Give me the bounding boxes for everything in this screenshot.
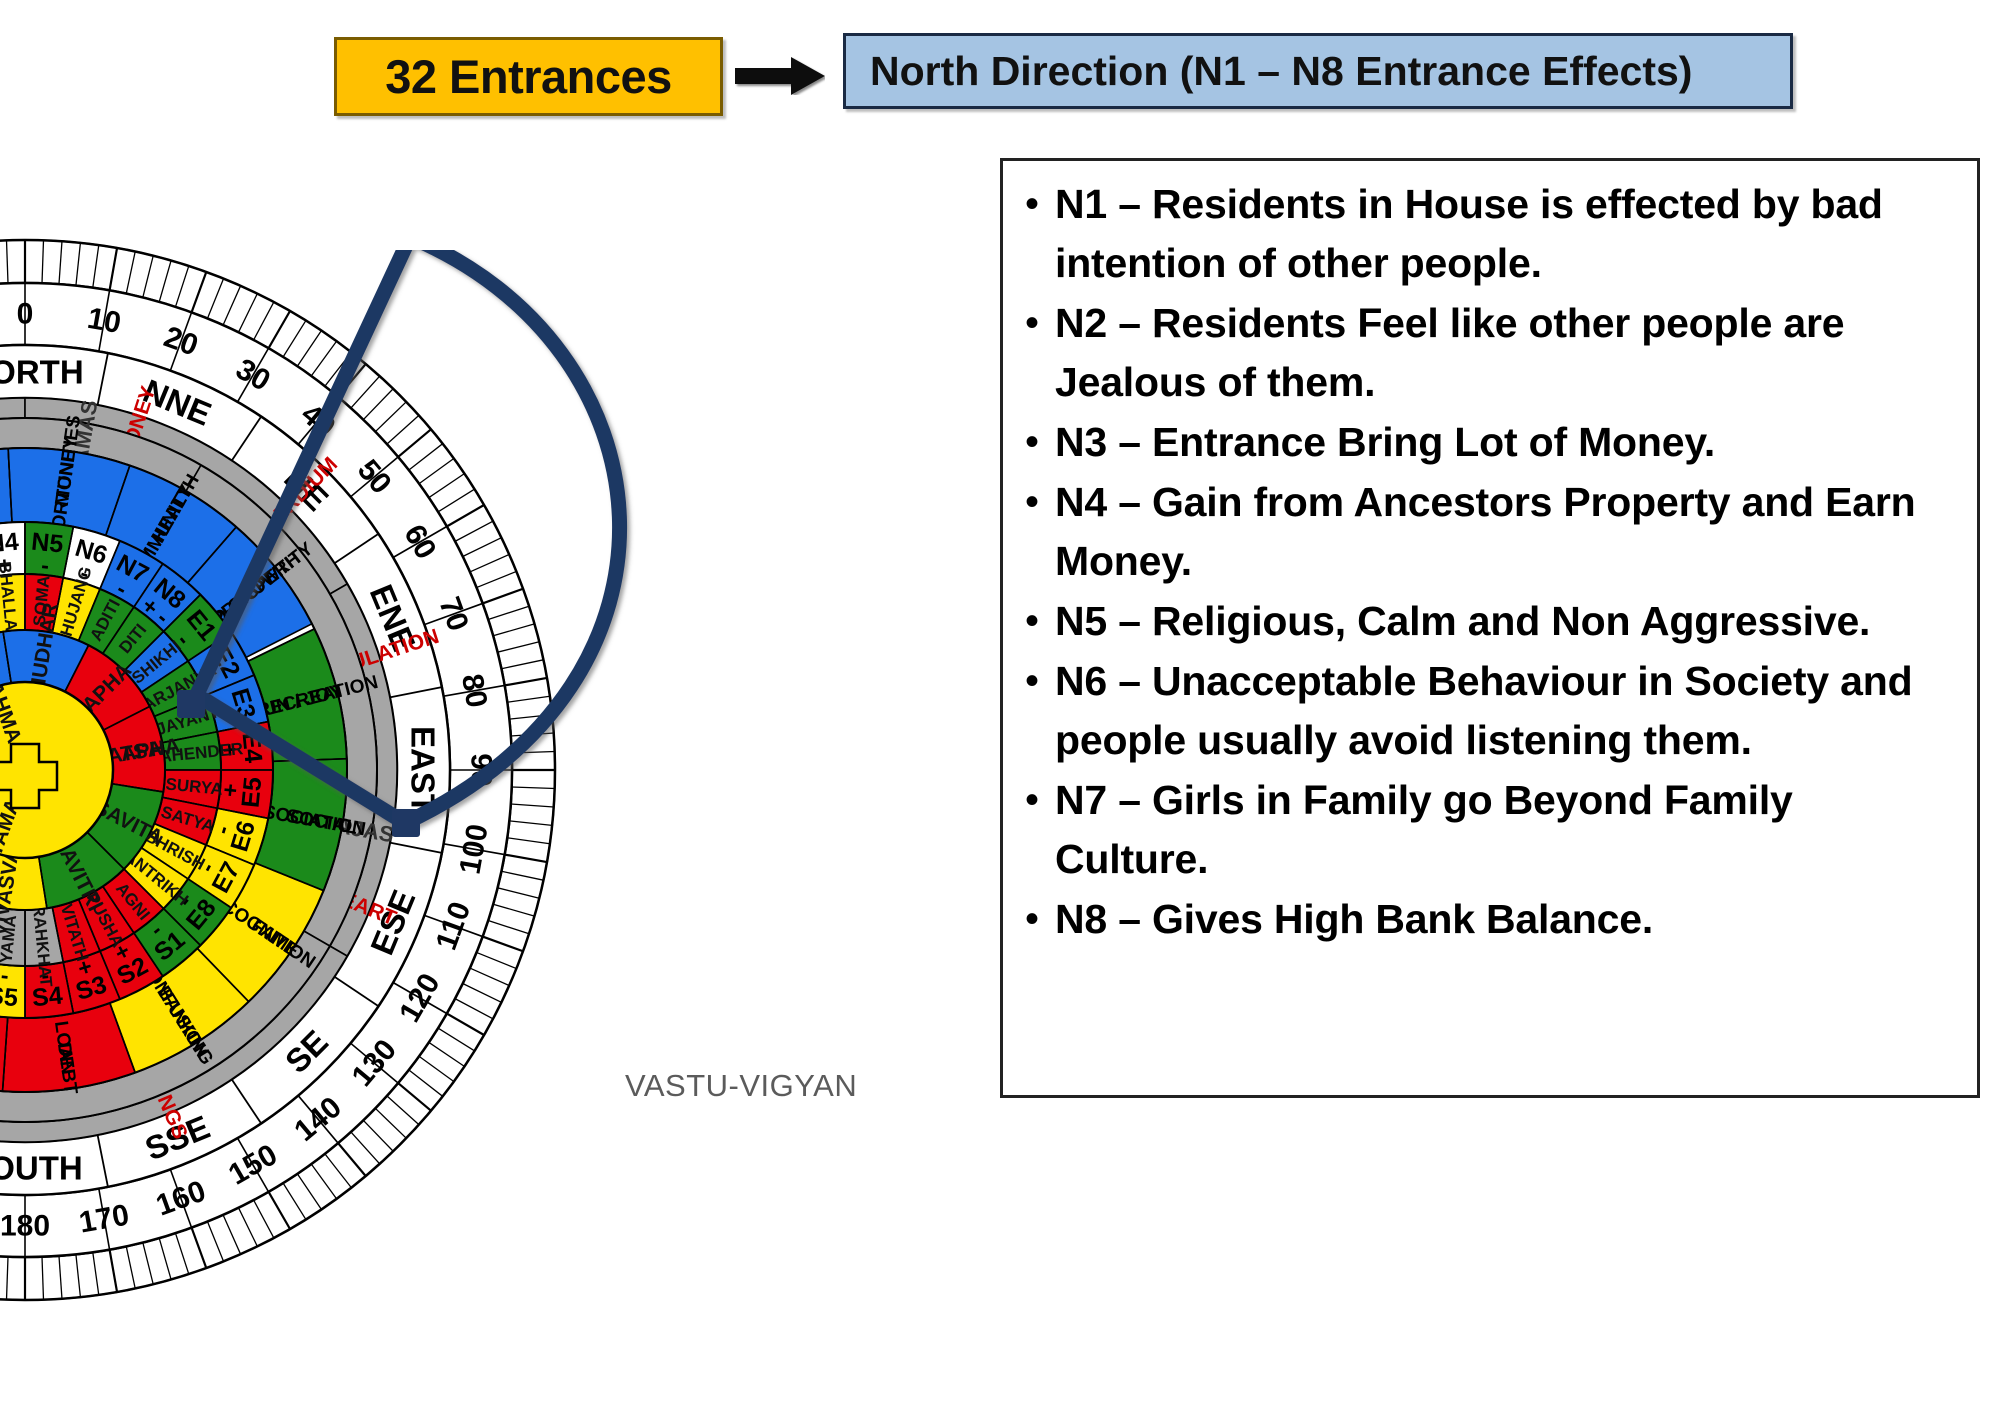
degree-label: 180 [0,1210,50,1243]
vastu-chakra-wheel: 0102030405060708090100110120130140150160… [0,120,675,1420]
degree-label: 80 [455,672,493,711]
effect-bullet-item: •N1 – Residents in House is effected by … [1025,175,1957,293]
degree-label: 0 [17,298,34,331]
effect-bullet-item: •N6 – Unacceptable Behaviour in Society … [1025,652,1957,770]
bullet-dot-icon: • [1025,473,1055,532]
effect-bullet-item: •N4 – Gain from Ancestors Property and E… [1025,473,1957,591]
effect-bullet-text: N2 – Residents Feel like other people ar… [1055,294,1957,412]
effect-bullet-text: N3 – Entrance Bring Lot of Money. [1055,413,1715,472]
bullet-dot-icon: • [1025,771,1055,830]
bullet-dot-icon: • [1025,652,1055,711]
bullet-dot-icon: • [1025,294,1055,353]
subtitle-badge-label: North Direction (N1 – N8 Entrance Effect… [870,48,1692,95]
compass-label-north: NORTH [0,354,84,391]
effect-bullet-text: N1 – Residents in House is effected by b… [1055,175,1957,293]
bullet-dot-icon: • [1025,890,1055,949]
effect-bullet-text: N5 – Religious, Calm and Non Aggressive. [1055,592,1870,651]
subtitle-badge: North Direction (N1 – N8 Entrance Effect… [843,33,1793,109]
effect-bullet-item: •N5 – Religious, Calm and Non Aggressive… [1025,592,1957,651]
bullet-dot-icon: • [1025,592,1055,651]
bullet-dot-icon: • [1025,175,1055,234]
compass-label-south: SOUTH [0,1150,83,1187]
effect-bullet-text: N6 – Unacceptable Behaviour in Society a… [1055,652,1957,770]
degree-label: 90 [465,753,498,786]
effect-bullet-text: N4 – Gain from Ancestors Property and Ea… [1055,473,1957,591]
entrance-effects-list: •N1 – Residents in House is effected by … [1025,175,1957,949]
effect-bullet-text: N7 – Girls in Family go Beyond Family Cu… [1055,771,1957,889]
vastu-chakra-svg: 0102030405060708090100110120130140150160… [0,120,675,1420]
bullet-dot-icon: • [1025,413,1055,472]
compass-label-east: EAST [405,726,442,814]
degree-label: 10 [85,302,124,340]
watermark-label: VASTU-VIGYAN [625,1068,857,1104]
effect-bullet-item: •N8 – Gives High Bank Balance. [1025,890,1957,949]
right-arrow-icon [735,57,825,95]
title-badge-label: 32 Entrances [385,49,672,104]
effect-bullet-item: •N3 – Entrance Bring Lot of Money. [1025,413,1957,472]
effect-bullet-item: •N2 – Residents Feel like other people a… [1025,294,1957,412]
entrance-effects-panel: •N1 – Residents in House is effected by … [1000,158,1980,1098]
header-bar: 32 Entrances North Direction (N1 – N8 En… [0,0,2000,125]
effect-bullet-item: •N7 – Girls in Family go Beyond Family C… [1025,771,1957,889]
title-badge: 32 Entrances [334,37,723,116]
effect-bullet-text: N8 – Gives High Bank Balance. [1055,890,1653,949]
